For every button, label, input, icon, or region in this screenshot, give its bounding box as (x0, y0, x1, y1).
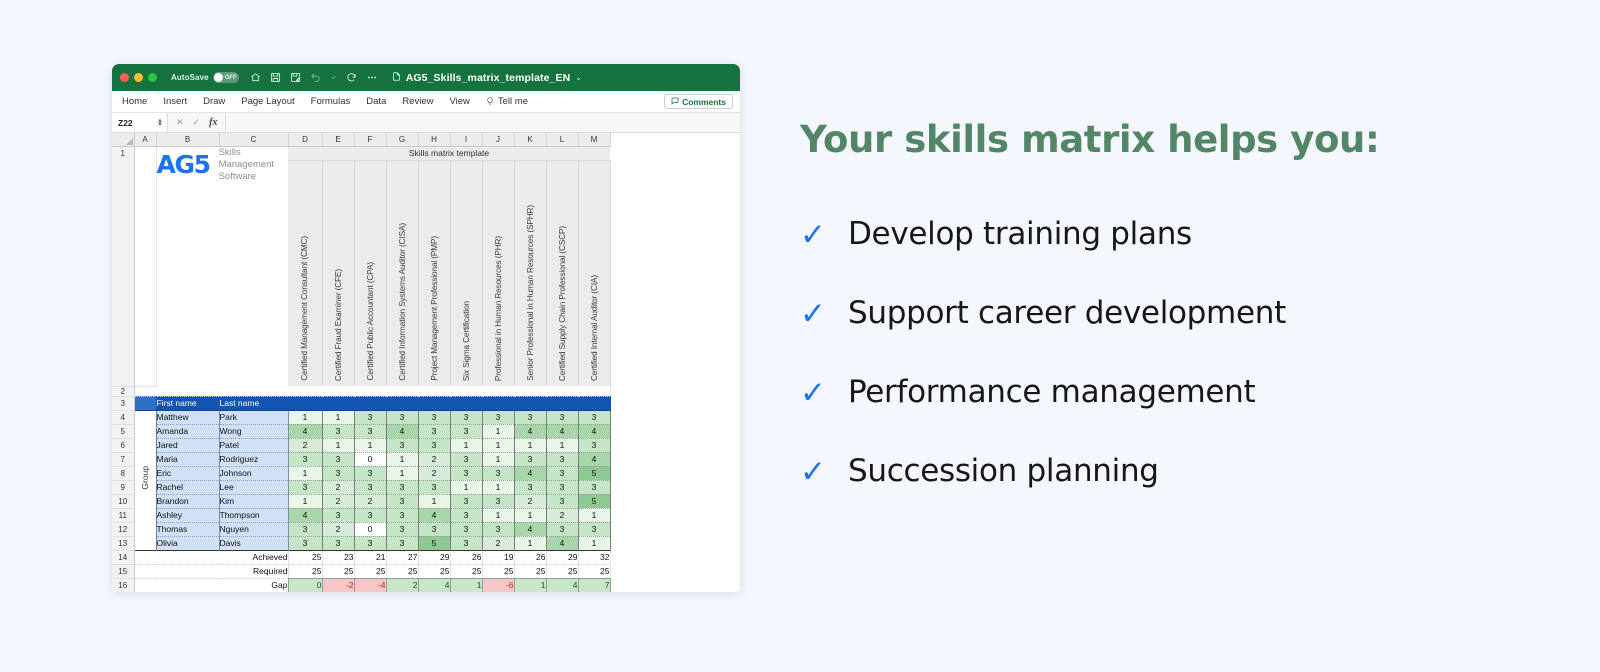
list-item: ✓Performance management (800, 374, 1560, 410)
formula-input[interactable] (225, 113, 740, 132)
score-cell[interactable]: 1 (482, 424, 514, 438)
score-cell[interactable]: 3 (354, 466, 386, 480)
confirm-icon[interactable]: ✓ (193, 117, 201, 128)
score-cell[interactable]: 3 (386, 410, 418, 424)
people-rows[interactable]: 4GroupMatthewPark11333333335AmandaWong43… (112, 410, 610, 550)
score-cell[interactable]: 3 (514, 452, 546, 466)
header-group-cell (134, 396, 156, 410)
achieved-1: 23 (322, 550, 354, 564)
spreadsheet-grid[interactable]: A B C D E F G H I J K L M 1 (112, 133, 740, 592)
promo-headline: Your skills matrix helps you: (800, 118, 1560, 162)
last-name-cell[interactable]: Lee (219, 480, 288, 494)
row-number-1[interactable]: 1 (112, 146, 134, 386)
score-cell[interactable]: 2 (546, 508, 578, 522)
row-number-14[interactable]: 14 (112, 550, 134, 564)
check-icon: ✓ (800, 219, 826, 250)
gap-cell-8: 4 (546, 578, 578, 592)
row-number-11[interactable]: 11 (112, 508, 134, 522)
score-cell[interactable]: 3 (450, 508, 482, 522)
score-cell[interactable]: 0 (354, 452, 386, 466)
score-cell[interactable]: 3 (288, 536, 322, 550)
tab-view[interactable]: View (449, 96, 469, 107)
score-cell[interactable]: 3 (418, 438, 450, 452)
score-cell[interactable]: 3 (386, 480, 418, 494)
benefit-label: Succession planning (848, 453, 1159, 489)
last-name-cell[interactable]: Wong (219, 424, 288, 438)
score-cell[interactable]: 3 (386, 522, 418, 536)
score-cell[interactable]: 3 (322, 452, 354, 466)
score-cell[interactable]: 4 (578, 452, 610, 466)
tab-page-layout[interactable]: Page Layout (241, 96, 294, 107)
formula-bar-actions[interactable]: ✕ ✓ fx (168, 117, 225, 128)
last-name-cell[interactable]: Thompson (219, 508, 288, 522)
comments-button[interactable]: Comments (664, 94, 733, 109)
score-cell[interactable]: 3 (418, 424, 450, 438)
list-item: ✓Succession planning (800, 453, 1560, 489)
name-box[interactable]: Z22 ▲▼ (112, 113, 168, 132)
excel-window: AutoSave OFF (112, 64, 740, 592)
score-cell[interactable]: 4 (386, 424, 418, 438)
achieved-label: Achieved (219, 550, 288, 564)
last-name-cell[interactable]: Park (219, 410, 288, 424)
score-cell[interactable]: 1 (546, 438, 578, 452)
score-cell[interactable]: 3 (450, 452, 482, 466)
score-cell[interactable]: 2 (418, 466, 450, 480)
sheet-row-1-title: 1 AG5 Skills Management Software Skills … (112, 146, 610, 160)
score-cell[interactable]: 3 (354, 508, 386, 522)
header-first-name: First name (156, 396, 219, 410)
score-cell[interactable]: 2 (354, 494, 386, 508)
minimize-icon[interactable] (134, 73, 143, 82)
score-cell[interactable]: 3 (578, 438, 610, 452)
row-gap: 16 Gap 0-2-4241-6147 (112, 578, 610, 592)
score-cell[interactable]: 4 (546, 536, 578, 550)
score-cell[interactable]: 2 (418, 452, 450, 466)
row-number-4[interactable]: 4 (112, 410, 134, 424)
achieved-9: 32 (578, 550, 610, 564)
score-cell[interactable]: 1 (354, 438, 386, 452)
list-item: ✓Support career development (800, 295, 1560, 331)
score-cell[interactable]: 1 (482, 480, 514, 494)
first-name-cell[interactable]: Brandon (156, 494, 219, 508)
table-row[interactable]: 5AmandaWong4334331444 (112, 424, 610, 438)
score-cell[interactable]: 3 (546, 410, 578, 424)
score-cell[interactable]: 3 (450, 466, 482, 480)
skill-header-2[interactable]: Certified Public Accountant (CPA) (354, 160, 386, 386)
col-D[interactable]: D (288, 133, 322, 146)
tab-formulas[interactable]: Formulas (311, 96, 351, 107)
score-cell[interactable]: 1 (386, 466, 418, 480)
gap-cell-0: 0 (288, 578, 322, 592)
gap-cell-5: 1 (450, 578, 482, 592)
skill-header-1[interactable]: Certified Fraud Examiner (CFE) (322, 160, 354, 386)
score-cell[interactable]: 3 (546, 480, 578, 494)
score-cell[interactable]: 3 (482, 410, 514, 424)
score-cell[interactable]: 3 (578, 522, 610, 536)
score-cell[interactable]: 3 (578, 480, 610, 494)
table-row[interactable]: 8EricJohnson1331233435 (112, 466, 610, 480)
banner-title: Skills matrix template (288, 146, 610, 160)
last-name-cell[interactable]: Davis (219, 536, 288, 550)
score-cell[interactable]: 1 (482, 508, 514, 522)
gap-cell-4: 4 (418, 578, 450, 592)
comments-label: Comments (682, 97, 726, 107)
achieved-0: 25 (288, 550, 322, 564)
benefit-label: Develop training plans (848, 216, 1192, 252)
table-row[interactable]: 13OliviaDavis3333532141 (112, 536, 610, 550)
score-cell[interactable]: 1 (482, 452, 514, 466)
skill-header-9[interactable]: Certified Internal Auditor (CIA) (578, 160, 610, 386)
score-cell[interactable]: 2 (288, 438, 322, 452)
traffic-lights[interactable] (120, 73, 157, 82)
title-chevron-icon[interactable]: ⌄ (575, 73, 582, 82)
score-cell[interactable]: 3 (450, 522, 482, 536)
score-cell[interactable]: 3 (386, 508, 418, 522)
col-I[interactable]: I (450, 133, 482, 146)
promo-panel: Your skills matrix helps you: ✓Develop t… (800, 118, 1560, 532)
first-name-cell[interactable]: Olivia (156, 536, 219, 550)
score-cell[interactable]: 3 (288, 480, 322, 494)
select-all-corner[interactable] (112, 133, 134, 146)
score-cell[interactable]: 4 (514, 424, 546, 438)
score-cell[interactable]: 1 (322, 410, 354, 424)
col-H[interactable]: H (418, 133, 450, 146)
score-cell[interactable]: 1 (514, 508, 546, 522)
achieved-4: 29 (418, 550, 450, 564)
row-number-12[interactable]: 12 (112, 522, 134, 536)
sheet-row-3-headers: 3 First name Last name (112, 396, 610, 410)
group-label-cell: Group (134, 410, 156, 550)
required-7: 25 (514, 564, 546, 578)
score-cell[interactable]: 5 (578, 466, 610, 480)
formula-bar: Z22 ▲▼ ✕ ✓ fx (112, 113, 740, 133)
document-name: AG5_Skills_matrix_template_EN (406, 72, 571, 84)
gap-cell-6: -6 (482, 578, 514, 592)
score-cell[interactable]: 1 (578, 536, 610, 550)
save-as-icon[interactable] (290, 72, 301, 83)
autosave-toggle[interactable]: AutoSave OFF (171, 72, 239, 83)
score-cell[interactable]: 3 (288, 452, 322, 466)
cancel-icon[interactable]: ✕ (176, 117, 184, 128)
required-6: 25 (482, 564, 514, 578)
score-cell[interactable]: 3 (546, 466, 578, 480)
last-name-cell[interactable]: Patel (219, 438, 288, 452)
tab-draw[interactable]: Draw (203, 96, 225, 107)
score-cell[interactable]: 3 (322, 424, 354, 438)
name-box-spinner-icon[interactable]: ▲▼ (157, 119, 163, 127)
ribbon-tabs[interactable]: Home Insert Draw Page Layout Formulas Da… (112, 91, 740, 113)
header-skills-blank (288, 396, 610, 410)
col-M[interactable]: M (578, 133, 610, 146)
score-cell[interactable]: 1 (288, 410, 322, 424)
score-cell[interactable]: 4 (288, 424, 322, 438)
gap-cell-3: 2 (386, 578, 418, 592)
tell-me-search[interactable]: Tell me (486, 93, 528, 111)
score-cell[interactable]: 3 (546, 452, 578, 466)
skill-header-7[interactable]: Senior Professional in Human Resources (… (514, 160, 546, 386)
score-cell[interactable]: 3 (354, 480, 386, 494)
maximize-icon[interactable] (148, 73, 157, 82)
achieved-2: 21 (354, 550, 386, 564)
required-4: 25 (418, 564, 450, 578)
score-cell[interactable]: 3 (322, 466, 354, 480)
col-F[interactable]: F (354, 133, 386, 146)
last-name-cell[interactable]: Nguyen (219, 522, 288, 536)
column-header-row[interactable]: A B C D E F G H I J K L M (112, 133, 610, 146)
tab-review[interactable]: Review (402, 96, 433, 107)
score-cell[interactable]: 1 (450, 438, 482, 452)
table-row[interactable]: 9RachelLee3233311333 (112, 480, 610, 494)
page-root: AutoSave OFF (0, 0, 1600, 672)
score-cell[interactable]: 1 (578, 508, 610, 522)
required-2: 25 (354, 564, 386, 578)
score-cell[interactable]: 3 (546, 522, 578, 536)
autosave-label: AutoSave (171, 73, 209, 82)
table-row[interactable]: 11AshleyThompson4333431121 (112, 508, 610, 522)
table-row[interactable]: 7MariaRodriguez3301231334 (112, 452, 610, 466)
ag5-logo: AG5 (157, 150, 210, 179)
check-icon: ✓ (800, 456, 826, 487)
achieved-7: 26 (514, 550, 546, 564)
benefit-label: Performance management (848, 374, 1255, 410)
col-A[interactable]: A (134, 133, 156, 146)
file-icon (392, 69, 401, 87)
first-name-cell[interactable]: Ashley (156, 508, 219, 522)
skill-header-5[interactable]: Six Sigma Certification (450, 160, 482, 386)
skill-header-4[interactable]: Project Management Professional (PMP) (418, 160, 450, 386)
score-cell[interactable]: 3 (354, 424, 386, 438)
skill-header-8[interactable]: Certified Supply Chain Professional (CSC… (546, 160, 578, 386)
benefit-label: Support career development (848, 295, 1286, 331)
required-8: 25 (546, 564, 578, 578)
score-cell[interactable]: 3 (450, 494, 482, 508)
col-G[interactable]: G (386, 133, 418, 146)
table-row[interactable]: 10BrandonKim1223133235 (112, 494, 610, 508)
score-cell[interactable]: 3 (386, 438, 418, 452)
first-name-cell[interactable]: Rachel (156, 480, 219, 494)
score-cell[interactable]: 3 (418, 480, 450, 494)
row-number-3[interactable]: 3 (112, 396, 134, 410)
insert-function-icon[interactable]: fx (209, 117, 217, 128)
home-icon[interactable] (250, 72, 261, 83)
row-number-8[interactable]: 8 (112, 466, 134, 480)
logo-line-1: Skills Management (219, 147, 274, 170)
required-1: 25 (322, 564, 354, 578)
table-row[interactable]: 4GroupMatthewPark1133333333 (112, 410, 610, 424)
logo-subtitle: Skills Management Software (219, 147, 288, 183)
score-cell[interactable]: 5 (418, 536, 450, 550)
score-cell[interactable]: 3 (482, 522, 514, 536)
required-3: 25 (386, 564, 418, 578)
autosave-switch[interactable]: OFF (213, 72, 239, 83)
sheet-row-2: 2 (112, 386, 610, 396)
score-cell[interactable]: 1 (482, 438, 514, 452)
col-K[interactable]: K (514, 133, 546, 146)
score-cell[interactable]: 1 (288, 494, 322, 508)
row-number-7[interactable]: 7 (112, 452, 134, 466)
last-name-cell[interactable]: Rodriguez (219, 452, 288, 466)
window-titlebar: AutoSave OFF (112, 64, 740, 91)
gap-cell-9: 7 (578, 578, 610, 592)
row-number-9[interactable]: 9 (112, 480, 134, 494)
col-L[interactable]: L (546, 133, 578, 146)
score-cell[interactable]: 3 (386, 494, 418, 508)
achieved-3: 27 (386, 550, 418, 564)
first-name-cell[interactable]: Jared (156, 438, 219, 452)
col-J[interactable]: J (482, 133, 514, 146)
row-achieved: 14 Achieved 25 23 21 27 29 26 19 26 29 3… (112, 550, 610, 564)
score-cell[interactable]: 2 (514, 494, 546, 508)
score-cell[interactable]: 1 (288, 466, 322, 480)
score-cell[interactable]: 5 (578, 494, 610, 508)
close-icon[interactable] (120, 73, 129, 82)
skill-header-0[interactable]: Certified Management Consultant (CMC) (288, 160, 322, 386)
logo-cell: AG5 Skills Management Software (156, 146, 288, 386)
col-C[interactable]: C (219, 133, 288, 146)
tab-home[interactable]: Home (122, 96, 147, 107)
achieved-8: 29 (546, 550, 578, 564)
list-item: ✓Develop training plans (800, 216, 1560, 252)
row-required: 15 Required 25 25 25 25 25 25 25 25 25 2… (112, 564, 610, 578)
score-cell[interactable]: 3 (514, 410, 546, 424)
check-icon: ✓ (800, 298, 826, 329)
score-cell[interactable]: 3 (450, 424, 482, 438)
benefits-list: ✓Develop training plans✓Support career d… (800, 216, 1560, 489)
first-name-cell[interactable]: Matthew (156, 410, 219, 424)
score-cell[interactable]: 3 (578, 410, 610, 424)
sheet-table: A B C D E F G H I J K L M 1 (112, 133, 611, 592)
table-row[interactable]: 12ThomasNguyen3203333433 (112, 522, 610, 536)
achieved-5: 26 (450, 550, 482, 564)
redo-icon[interactable] (346, 72, 357, 83)
score-cell[interactable]: 3 (482, 466, 514, 480)
score-cell[interactable]: 2 (322, 494, 354, 508)
lightbulb-icon (486, 93, 494, 111)
check-icon: ✓ (800, 377, 826, 408)
score-cell[interactable]: 3 (322, 508, 354, 522)
score-cell[interactable]: 4 (418, 508, 450, 522)
score-cell[interactable]: 3 (354, 410, 386, 424)
score-cell[interactable]: 3 (514, 480, 546, 494)
score-cell[interactable]: 0 (354, 522, 386, 536)
autosave-knob (214, 73, 223, 82)
score-cell[interactable]: 3 (322, 536, 354, 550)
score-cell[interactable]: 2 (322, 522, 354, 536)
score-cell[interactable]: 3 (386, 536, 418, 550)
row-number-6[interactable]: 6 (112, 438, 134, 452)
tab-data[interactable]: Data (366, 96, 386, 107)
required-0: 25 (288, 564, 322, 578)
first-name-cell[interactable]: Eric (156, 466, 219, 480)
cell-A1[interactable] (134, 146, 156, 386)
last-name-cell[interactable]: Johnson (219, 466, 288, 480)
row-number-16[interactable]: 16 (112, 578, 134, 592)
tell-me-label: Tell me (498, 96, 528, 107)
score-cell[interactable]: 3 (482, 494, 514, 508)
score-cell[interactable]: 3 (418, 522, 450, 536)
score-cell[interactable]: 3 (546, 494, 578, 508)
score-cell[interactable]: 3 (288, 522, 322, 536)
row-number-13[interactable]: 13 (112, 536, 134, 550)
score-cell[interactable]: 1 (514, 536, 546, 550)
undo-icon[interactable] (310, 72, 321, 83)
autosave-state: OFF (225, 75, 237, 81)
score-cell[interactable]: 3 (450, 410, 482, 424)
required-9: 25 (578, 564, 610, 578)
score-cell[interactable]: 4 (288, 508, 322, 522)
score-cell[interactable]: 4 (514, 522, 546, 536)
document-title[interactable]: AG5_Skills_matrix_template_EN ⌄ (392, 69, 582, 87)
chevron-down-icon[interactable] (330, 74, 337, 81)
first-name-cell[interactable]: Thomas (156, 522, 219, 536)
score-cell[interactable]: 3 (450, 536, 482, 550)
col-E[interactable]: E (322, 133, 354, 146)
col-B[interactable]: B (156, 133, 219, 146)
logo-line-2: Software (219, 171, 257, 182)
row-number-10[interactable]: 10 (112, 494, 134, 508)
score-cell[interactable]: 2 (322, 480, 354, 494)
save-icon[interactable] (270, 72, 281, 83)
skill-header-3[interactable]: Certified Information Systems Auditor (C… (386, 160, 418, 386)
score-cell[interactable]: 1 (450, 480, 482, 494)
gap-cell-1: -2 (322, 578, 354, 592)
tab-insert[interactable]: Insert (163, 96, 187, 107)
comment-icon (671, 97, 679, 107)
score-cell[interactable]: 2 (482, 536, 514, 550)
score-cell[interactable]: 1 (322, 438, 354, 452)
row-2-blank (134, 386, 610, 396)
score-cell[interactable]: 1 (514, 438, 546, 452)
score-cell[interactable]: 4 (514, 466, 546, 480)
header-last-name: Last name (219, 396, 288, 410)
gap-cell-2: -4 (354, 578, 386, 592)
score-cell[interactable]: 4 (546, 424, 578, 438)
score-cell[interactable]: 3 (354, 536, 386, 550)
score-cell[interactable]: 4 (578, 424, 610, 438)
last-name-cell[interactable]: Kim (219, 494, 288, 508)
score-cell[interactable]: 1 (386, 452, 418, 466)
skill-header-6[interactable]: Professional in Human Resources (PHR) (482, 160, 514, 386)
score-cell[interactable]: 3 (418, 410, 450, 424)
score-cell[interactable]: 1 (418, 494, 450, 508)
more-options-icon[interactable] (366, 72, 378, 83)
first-name-cell[interactable]: Maria (156, 452, 219, 466)
row-number-15[interactable]: 15 (112, 564, 134, 578)
name-box-value: Z22 (118, 118, 133, 128)
row-number-5[interactable]: 5 (112, 424, 134, 438)
first-name-cell[interactable]: Amanda (156, 424, 219, 438)
table-row[interactable]: 6JaredPatel2113311113 (112, 438, 610, 452)
quick-access-toolbar[interactable] (250, 72, 378, 83)
row-number-2[interactable]: 2 (112, 386, 134, 396)
gap-cell-7: 1 (514, 578, 546, 592)
required-5: 25 (450, 564, 482, 578)
required-label: Required (219, 564, 288, 578)
achieved-6: 19 (482, 550, 514, 564)
gap-label: Gap (219, 578, 288, 592)
